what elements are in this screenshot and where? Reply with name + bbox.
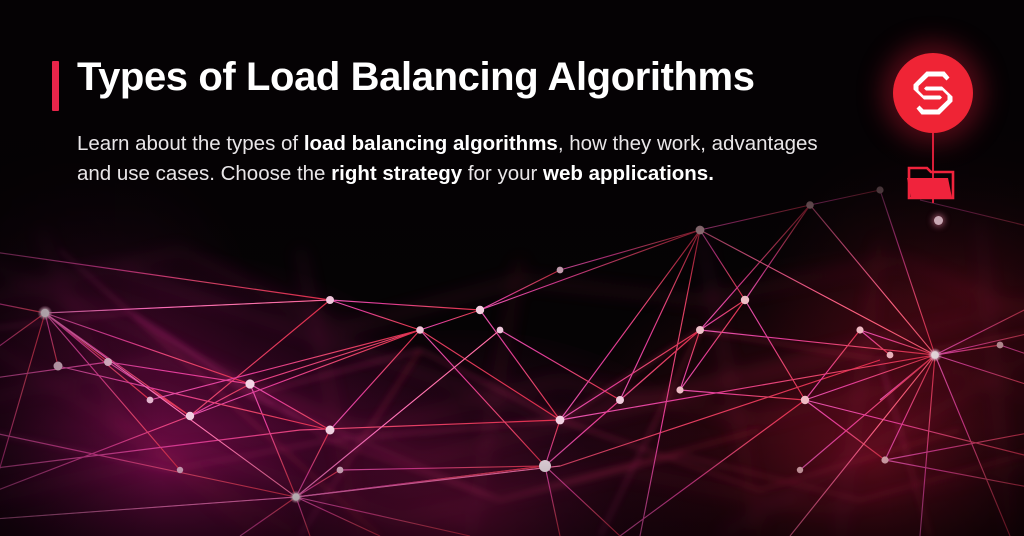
folder-node-icon[interactable]: [906, 160, 956, 202]
subtitle-text-1: Learn about the types of: [77, 132, 304, 155]
page-subtitle: Learn about the types of load balancing …: [77, 129, 837, 190]
page-title: Types of Load Balancing Algorithms: [77, 56, 755, 99]
subtitle-strong-4: applications.: [583, 162, 714, 185]
subtitle-text-2: , how they work,: [558, 132, 706, 155]
subtitle-strong-2: right strategy: [331, 162, 462, 185]
subtitle-strong-1: load balancing algorithms: [304, 132, 558, 155]
logo-s-glyph: [893, 53, 973, 133]
mesh-node-under-folder: [934, 216, 943, 225]
hero-text-block: Types of Load Balancing Algorithms Learn…: [52, 56, 852, 190]
accent-bar: [52, 61, 59, 111]
subtitle-text-4: for your: [462, 162, 543, 185]
hero-banner: Types of Load Balancing Algorithms Learn…: [0, 0, 1024, 536]
logo-cluster: [880, 40, 1000, 210]
subtitle-strong-3: web: [543, 162, 583, 185]
brand-logo-icon[interactable]: [893, 53, 973, 133]
headline-row: Types of Load Balancing Algorithms: [52, 56, 852, 111]
